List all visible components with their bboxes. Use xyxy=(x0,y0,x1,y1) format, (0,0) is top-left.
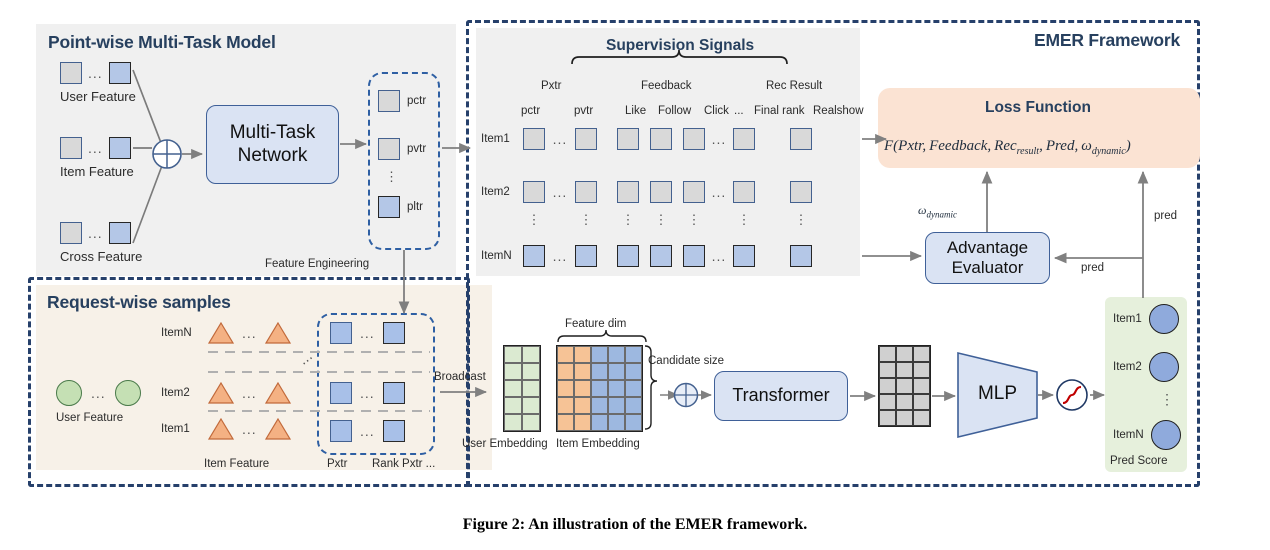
loss-function-formula: F(Pxtr, Feedback, Recresult, Pred, ωdyna… xyxy=(884,138,1131,157)
row-label-item1: Item1 xyxy=(481,133,510,145)
pred-score-item1: Item1 xyxy=(1113,304,1179,334)
pred-score-itemn: ItemN xyxy=(1113,420,1181,450)
ellipsis: ... xyxy=(88,222,103,244)
pxtr-cell xyxy=(383,322,405,344)
pltr-output: pltr xyxy=(378,196,423,218)
pred-score-item-label: Item2 xyxy=(1113,361,1142,373)
mlp-block[interactable]: MLP xyxy=(955,350,1040,440)
signal-cell xyxy=(790,245,812,267)
formula-pxtr: Pxtr, xyxy=(898,138,926,154)
item-feature-row: ... xyxy=(208,322,291,344)
output-cell xyxy=(378,90,400,112)
figure-caption: Figure 2: An illustration of the EMER fr… xyxy=(0,516,1270,534)
col-header-ellipsis: ... xyxy=(734,105,744,117)
requestwise-row-label-item2: Item2 xyxy=(161,387,190,399)
col-header-final-rank: Final rank xyxy=(754,105,805,117)
user-feature-circle xyxy=(115,380,141,406)
col-header-like: Like xyxy=(625,105,646,117)
item-feature-triangle xyxy=(208,418,234,440)
supervision-title: Supervision Signals xyxy=(606,37,754,55)
pxtr-cell xyxy=(383,382,405,404)
item-feature-triangle xyxy=(265,418,291,440)
signal-cell xyxy=(683,181,705,203)
ellipsis: ... xyxy=(545,128,575,150)
pred-score-circle xyxy=(1149,352,1179,382)
signal-cell xyxy=(790,128,812,150)
pctr-output: pctr xyxy=(378,90,426,112)
group-label-pxtr: Pxtr xyxy=(541,80,561,92)
signal-cell xyxy=(650,128,672,150)
formula-omega-sub: dynamic xyxy=(1092,146,1126,157)
pctr-label: pctr xyxy=(407,95,426,107)
output-cell xyxy=(378,196,400,218)
ellipsis: ... xyxy=(545,181,575,203)
ellipsis: ... xyxy=(360,322,375,344)
advantage-evaluator-label: AdvantageEvaluator xyxy=(947,238,1028,278)
signal-cell xyxy=(617,128,639,150)
item-feature-row: ... xyxy=(208,418,291,440)
item-feature-triangle xyxy=(208,322,234,344)
loss-function-title: Loss Function xyxy=(985,99,1091,117)
user-feature-label: User Feature xyxy=(60,89,136,104)
pxtr-row: ... xyxy=(330,322,405,344)
item-feature-row: ... xyxy=(208,382,291,404)
signal-cell xyxy=(790,181,812,203)
rank-pxtr-label: Rank Pxtr ... xyxy=(372,458,435,470)
ellipsis: ... xyxy=(360,420,375,442)
signal-cell xyxy=(575,245,597,267)
pred-score-title: Pred Score xyxy=(1110,455,1168,467)
formula-feedback: Feedback, xyxy=(929,138,991,154)
signal-cell xyxy=(683,245,705,267)
signal-cell xyxy=(523,181,545,203)
signal-cell xyxy=(617,245,639,267)
formula-f: F( xyxy=(884,138,898,154)
formula-rec: Rec xyxy=(994,138,1016,154)
pred-score-item-label: Item1 xyxy=(1113,313,1142,325)
ellipsis: ... xyxy=(360,382,375,404)
row-label-item2: Item2 xyxy=(481,186,510,198)
signal-cell xyxy=(733,181,755,203)
signal-cell xyxy=(523,128,545,150)
user-feature-label: User Feature xyxy=(56,412,141,424)
feature-cell xyxy=(60,137,82,159)
requestwise-row-label-item1: Item1 xyxy=(161,423,190,435)
col-header-pctr: pctr xyxy=(521,105,540,117)
pxtr-row: ... xyxy=(330,420,405,442)
ellipsis: ... xyxy=(91,382,106,404)
item-embedding-matrix xyxy=(556,345,643,432)
ellipsis: ... xyxy=(705,245,733,267)
transformer-output-matrix xyxy=(878,345,931,427)
pxtr-cell xyxy=(330,322,352,344)
item-feature-triangle xyxy=(265,322,291,344)
ellipsis: ... xyxy=(545,245,575,267)
formula-comma: , xyxy=(1039,138,1043,154)
signal-cell xyxy=(617,181,639,203)
group-label-feedback: Feedback xyxy=(641,80,692,92)
output-cell xyxy=(378,138,400,160)
signal-cell xyxy=(575,181,597,203)
advantage-evaluator-box[interactable]: AdvantageEvaluator xyxy=(925,232,1050,284)
feature-cell xyxy=(60,62,82,84)
supervision-vdots-row: ⋮ ⋮ ⋮ ⋮ ⋮ ⋮ ⋮ xyxy=(523,215,812,225)
pointwise-section-title: Point-wise Multi-Task Model xyxy=(48,32,276,53)
transformer-box[interactable]: Transformer xyxy=(714,371,848,421)
transformer-label: Transformer xyxy=(732,385,829,406)
pred-score-item-label: ItemN xyxy=(1113,429,1144,441)
pxtr-label: Pxtr xyxy=(327,458,347,470)
signal-cell xyxy=(523,245,545,267)
pvtr-label: pvtr xyxy=(407,143,426,155)
omega-dynamic-label: ωdynamic xyxy=(918,203,957,219)
supervision-row: ... ... xyxy=(523,245,812,267)
user-embedding-matrix xyxy=(503,345,541,432)
pxtr-cell xyxy=(330,382,352,404)
pred-label-top: pred xyxy=(1154,210,1177,222)
multi-task-network-label: Multi-Task Network xyxy=(230,122,316,167)
user-feature-circle xyxy=(56,380,82,406)
requestwise-section-title: Request-wise samples xyxy=(47,292,231,313)
pred-score-vdots: ⋮ xyxy=(1160,394,1174,404)
signal-cell xyxy=(733,245,755,267)
pvtr-output: pvtr xyxy=(378,138,426,160)
feature-cell xyxy=(109,62,131,84)
pxtr-row: ... xyxy=(330,382,405,404)
user-feature-group: ... User Feature xyxy=(60,62,136,104)
ellipsis: ... xyxy=(242,418,257,440)
signal-cell xyxy=(650,181,672,203)
formula-omega: ω xyxy=(1081,138,1092,154)
signal-cell xyxy=(683,128,705,150)
figure-canvas: EMER Framework Point-wise Multi-Task Mod… xyxy=(0,0,1270,550)
item-feature-label: Item Feature xyxy=(60,164,134,179)
pred-score-item2: Item2 xyxy=(1113,352,1179,382)
ellipsis: ... xyxy=(705,128,733,150)
requestwise-row-label-itemn: ItemN xyxy=(161,327,192,339)
formula-close: ) xyxy=(1126,138,1131,154)
signal-cell xyxy=(650,245,672,267)
col-header-pvtr: pvtr xyxy=(574,105,593,117)
item-feature-triangle xyxy=(208,382,234,404)
ellipsis: ... xyxy=(88,137,103,159)
col-header-realshow: Realshow xyxy=(813,105,864,117)
feature-cell xyxy=(109,137,131,159)
ellipsis: ... xyxy=(242,382,257,404)
item-feature-triangle xyxy=(265,382,291,404)
emer-framework-title: EMER Framework xyxy=(1034,30,1180,51)
cross-feature-group: ... Cross Feature xyxy=(60,222,142,264)
vertical-ellipsis: ⋮ xyxy=(385,172,398,182)
sigmoid-icon xyxy=(1055,378,1089,417)
supervision-row: ... ... xyxy=(523,181,812,203)
pxtr-cell xyxy=(330,420,352,442)
signal-cell xyxy=(575,128,597,150)
feature-cell xyxy=(109,222,131,244)
candidate-size-label: Candidate size xyxy=(648,355,724,367)
feature-engineering-label: Feature Engineering xyxy=(265,258,369,270)
pltr-label: pltr xyxy=(407,201,423,213)
group-label-rec-result: Rec Result xyxy=(766,80,822,92)
col-header-follow: Follow xyxy=(658,105,691,117)
item-feature-label: Item Feature xyxy=(204,458,269,470)
feature-cell xyxy=(60,222,82,244)
row-label-itemn: ItemN xyxy=(481,250,512,262)
mlp-label: MLP xyxy=(955,383,1040,405)
multi-task-network-box[interactable]: Multi-Task Network xyxy=(206,105,339,184)
formula-pred: Pred, xyxy=(1046,138,1078,154)
broadcast-label: Broadcast xyxy=(434,371,486,383)
user-embedding-label: User Embedding xyxy=(462,438,548,450)
item-feature-group: ... Item Feature xyxy=(60,137,134,179)
pxtr-cell xyxy=(383,420,405,442)
formula-rec-sub: result xyxy=(1017,146,1039,157)
supervision-row: ... ... xyxy=(523,128,812,150)
ellipsis: ... xyxy=(88,62,103,84)
signal-cell xyxy=(733,128,755,150)
pred-label-side: pred xyxy=(1081,262,1104,274)
col-header-click: Click xyxy=(704,105,729,117)
ellipsis: ... xyxy=(705,181,733,203)
item-embedding-label: Item Embedding xyxy=(556,438,640,450)
feature-dim-label: Feature dim xyxy=(565,318,626,330)
cross-feature-label: Cross Feature xyxy=(60,249,142,264)
requestwise-user-feature: ... User Feature xyxy=(56,380,141,424)
pred-score-circle xyxy=(1149,304,1179,334)
ellipsis: ... xyxy=(242,322,257,344)
pred-score-circle xyxy=(1151,420,1181,450)
